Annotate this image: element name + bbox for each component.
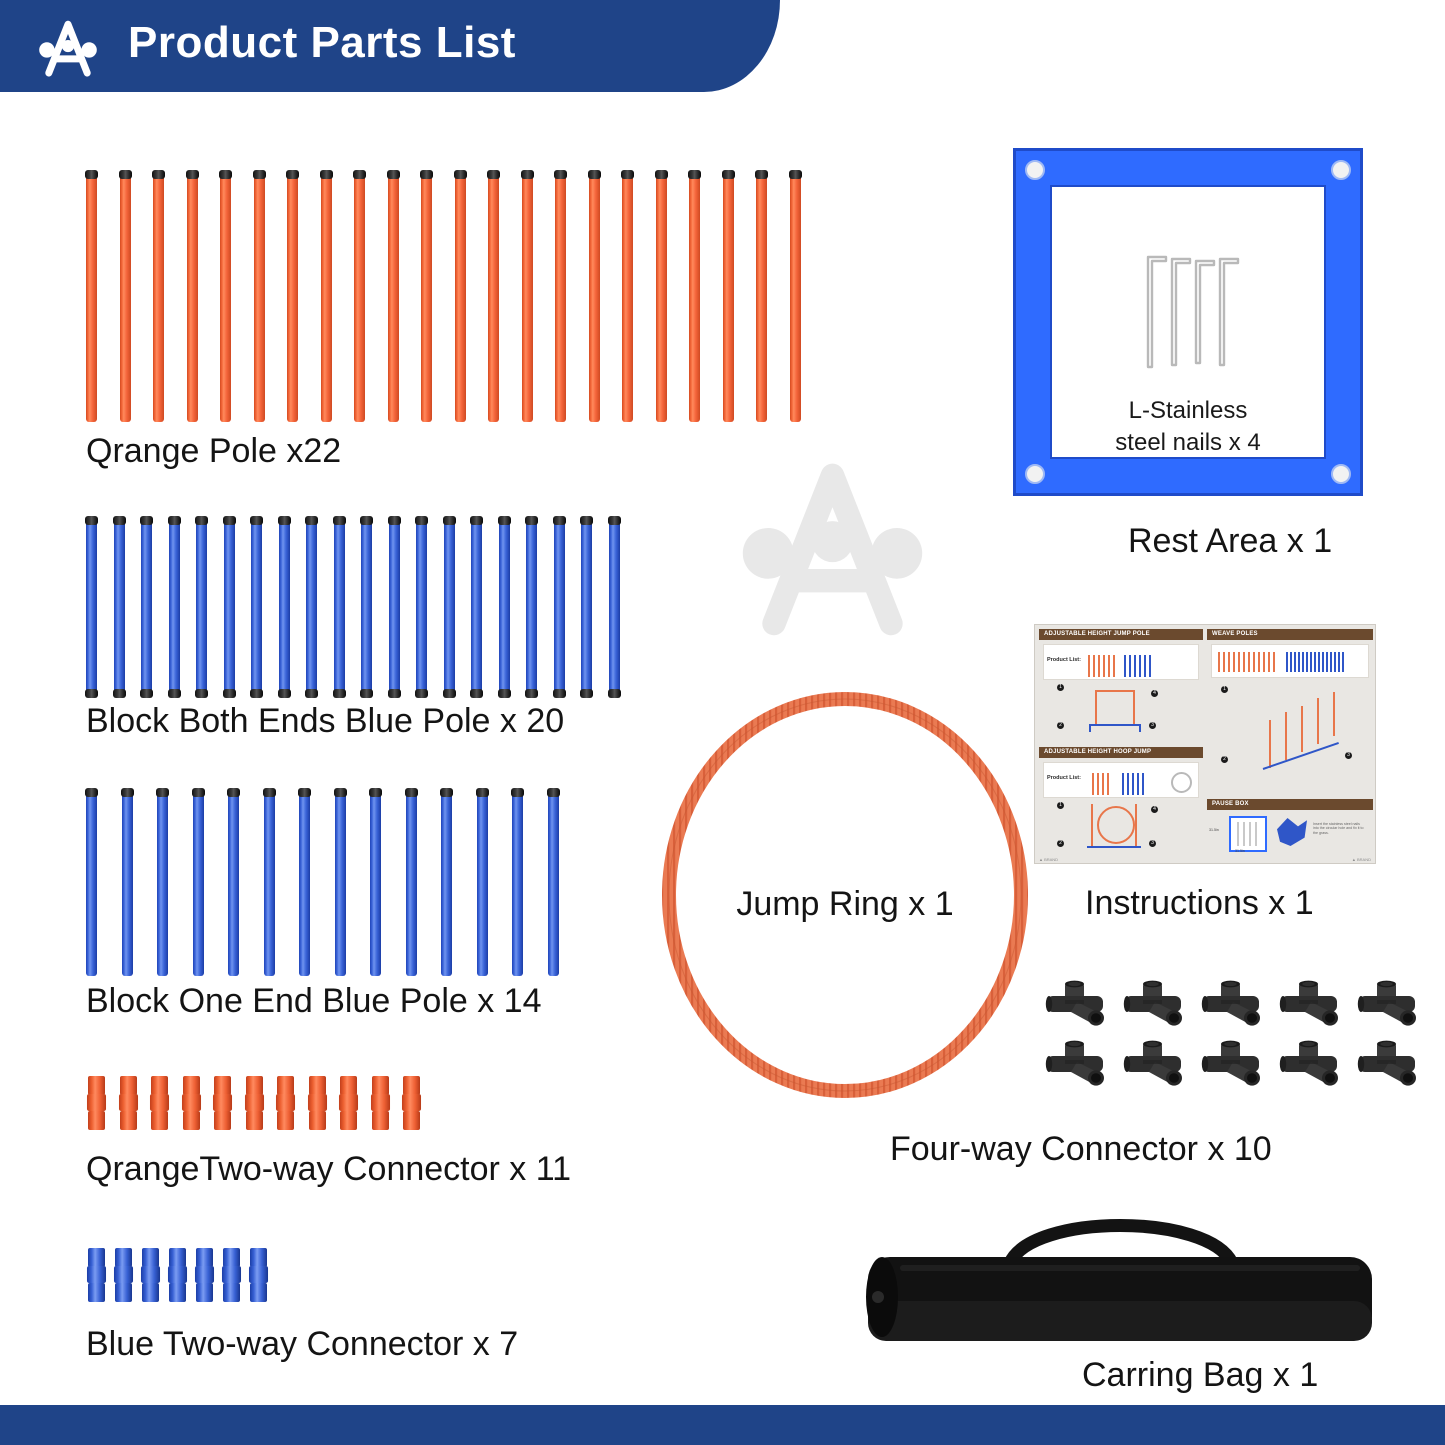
pole-body [86,518,97,696]
connector-segment [169,1248,186,1267]
pole-item [444,518,455,696]
connector-segment [309,1076,326,1095]
pole-cap-top [286,170,299,179]
pole-body [499,518,510,696]
pole-cap-bottom [85,689,98,698]
two-way-connector-item [340,1076,357,1130]
connector-segment [370,1094,389,1110]
pole-item [370,790,381,976]
panel-product-list-jump-pole: Product List: [1043,644,1199,680]
connector-segment [181,1094,200,1110]
pole-cap-top [547,788,560,797]
panel-product-list-hoop-jump: Product List: [1043,762,1199,798]
step-badge-3: 3 [1345,752,1352,759]
panel-diagram-weave-poles: 1 2 3 [1207,680,1373,788]
pole-cap-top [360,516,373,525]
l-nail-icon-group [1052,239,1324,379]
pole-cap-top [387,170,400,179]
pause-box-width-dim: 31.5in [1235,849,1257,853]
pole-cap-top [722,170,735,179]
step-badge-3: 3 [1149,722,1156,729]
pause-box-note: Insert the stainless steel nails into th… [1313,822,1365,835]
connector-segment [372,1076,389,1095]
pole-body [723,172,734,422]
pole-cap-top [755,170,768,179]
four-way-connector-item [1357,1040,1419,1088]
step-badge-4: 4 [1151,690,1158,697]
pole-body [321,172,332,422]
pole-body [287,172,298,422]
pole-item [555,172,566,422]
pole-cap-bottom [140,689,153,698]
two-way-connector-item [246,1076,263,1130]
pole-cap-top [405,788,418,797]
connector-segment [114,1266,133,1282]
pole-item [554,518,565,696]
pole-item [86,518,97,696]
step-badge-3: 3 [1149,840,1156,847]
four-way-connector-item [1201,980,1263,1028]
pole-cap-bottom [305,689,318,698]
pole-body [122,790,133,976]
connector-segment [120,1076,137,1095]
instruction-panel-pause-box: PAUSE BOX 31.5in 31.5in Insert the stain… [1207,799,1373,859]
pole-cap-bottom [223,689,236,698]
pole-cap-top [140,516,153,525]
pole-item [228,790,239,976]
panel-title-pause-box: PAUSE BOX [1207,799,1373,810]
step-badge-4: 4 [1151,806,1158,813]
four-way-connector-item [1045,1040,1107,1088]
pole-body [306,518,317,696]
pole-cap-top [113,516,126,525]
step-badge-1: 1 [1221,686,1228,693]
connector-segment [169,1283,186,1302]
page-title: Product Parts List [128,18,516,68]
pole-body [756,172,767,422]
two-way-connector-item [214,1076,231,1130]
pole-cap-top [250,516,263,525]
connector-segment [88,1248,105,1267]
pole-cap-bottom [608,689,621,698]
pole-item [406,790,417,976]
pole-cap-top [253,170,266,179]
instructions-footer-right: ▲ BRAND [1352,857,1371,862]
pole-item [689,172,700,422]
jump-ring-label: Jump Ring x 1 [655,885,1035,924]
pole-cap-top [263,788,276,797]
pole-body [86,172,97,422]
connector-segment [151,1076,168,1095]
pole-cap-top [369,788,382,797]
pole-item [656,172,667,422]
pole-body [361,518,372,696]
pole-body [334,518,345,696]
two-way-connector-item [196,1248,213,1302]
parts-list-page: Product Parts List Qrange Pole x22 Block… [0,0,1445,1445]
rest-area-label: Rest Area x 1 [1128,522,1332,561]
pole-body [477,790,488,976]
pole-item [321,172,332,422]
pole-body [193,790,204,976]
connector-segment [340,1076,357,1095]
pole-item [220,172,231,422]
pole-item [354,172,365,422]
orange-pole-group [86,172,801,422]
pole-item [526,518,537,696]
connector-segment [115,1248,132,1267]
pole-item [389,518,400,696]
pole-cap-top [580,516,593,525]
pole-body [471,518,482,696]
pole-item [441,790,452,976]
connector-segment [115,1283,132,1302]
nail-text-line-1: L-Stainless [1052,395,1324,427]
connector-segment [372,1111,389,1130]
pole-item [455,172,466,422]
pole-cap-top [655,170,668,179]
pole-cap-top [415,516,428,525]
pole-body [157,790,168,976]
connector-segment [307,1094,326,1110]
pole-cap-top [121,788,134,797]
pole-cap-top [223,516,236,525]
connector-segment [223,1283,240,1302]
pole-body [554,518,565,696]
pole-body [441,790,452,976]
orange-two-way-connector-label: QrangeTwo-way Connector x 11 [86,1150,571,1189]
pole-body [114,518,125,696]
two-way-connector-item [372,1076,389,1130]
pole-body [254,172,265,422]
pole-body [790,172,801,422]
connector-segment [214,1111,231,1130]
footer-bar [0,1405,1445,1445]
pole-item [193,790,204,976]
pole-item [335,790,346,976]
pole-cap-bottom [113,689,126,698]
four-way-connector-item [1123,1040,1185,1088]
two-way-connector-item [151,1076,168,1130]
instructions-card: ADJUSTABLE HEIGHT JUMP POLE Product List… [1034,624,1376,864]
panel-diagram-hoop-jump: 1 2 3 4 [1039,800,1203,856]
connector-segment [88,1283,105,1302]
pole-body [555,172,566,422]
pole-cap-top [195,516,208,525]
pole-item [157,790,168,976]
four-way-connector-label: Four-way Connector x 10 [890,1130,1272,1169]
pole-body [609,518,620,696]
product-list-label: Product List: [1047,657,1081,663]
pole-item [622,172,633,422]
page-header: Product Parts List [0,0,1445,100]
two-way-connector-item [250,1248,267,1302]
pole-body [689,172,700,422]
pole-body [335,790,346,976]
pole-item [548,790,559,976]
pole-body [251,518,262,696]
instruction-panel-hoop-jump: ADJUSTABLE HEIGHT HOOP JUMP Product List… [1039,747,1203,859]
instructions-label: Instructions x 1 [1085,884,1314,923]
pole-cap-bottom [360,689,373,698]
two-way-connector-item [88,1076,105,1130]
connector-segment [150,1094,169,1110]
four-way-connector-group [1045,980,1419,1088]
pole-cap-top [487,170,500,179]
pole-item [488,172,499,422]
pole-body [187,172,198,422]
pole-cap-top [298,788,311,797]
rocket-a-logo-icon [36,14,100,82]
pole-item [287,172,298,422]
pole-cap-top [186,170,199,179]
connector-segment [183,1076,200,1095]
panel-product-list-weave-poles [1211,644,1369,678]
rest-area-inner-panel: L-Stainless steel nails x 4 [1050,185,1326,459]
pole-item [141,518,152,696]
pole-item [522,172,533,422]
pole-item [279,518,290,696]
connector-segment [141,1266,160,1282]
two-way-connector-item [223,1248,240,1302]
pole-item [388,172,399,422]
pole-item [361,518,372,696]
pole-item [334,518,345,696]
pole-cap-top [443,516,456,525]
pause-box-square [1229,816,1267,852]
pole-body [589,172,600,422]
pole-body [153,172,164,422]
nail-text-line-2: steel nails x 4 [1052,427,1324,459]
connector-segment [403,1111,420,1130]
pole-cap-bottom [250,689,263,698]
connector-segment [402,1094,421,1110]
pole-item [120,172,131,422]
pole-item [499,518,510,696]
connector-segment [277,1076,294,1095]
connector-segment [223,1248,240,1267]
connector-segment [118,1094,137,1110]
pole-item [581,518,592,696]
connector-segment [249,1266,268,1282]
pole-item [299,790,310,976]
pole-body [444,518,455,696]
pole-body [455,172,466,422]
panel-title-hoop-jump: ADJUSTABLE HEIGHT HOOP JUMP [1039,747,1203,758]
pole-cap-bottom [470,689,483,698]
pole-body [220,172,231,422]
pole-item [723,172,734,422]
pole-cap-top [454,170,467,179]
pole-item [224,518,235,696]
connector-segment [246,1076,263,1095]
step-badge-1: 1 [1057,802,1064,809]
two-way-connector-item [142,1248,159,1302]
connector-segment [339,1094,358,1110]
two-way-connector-item [88,1248,105,1302]
pole-cap-bottom [498,689,511,698]
pole-item [122,790,133,976]
pole-cap-top [320,170,333,179]
pole-item [196,518,207,696]
pole-cap-top [305,516,318,525]
connector-segment [213,1094,232,1110]
pole-cap-top [476,788,489,797]
step-badge-2: 2 [1057,722,1064,729]
pole-item [169,518,180,696]
four-way-connector-item [1123,980,1185,1028]
pole-body [656,172,667,422]
connector-segment [277,1111,294,1130]
pole-cap-top [521,170,534,179]
connector-segment [88,1076,105,1095]
product-list-label: Product List: [1047,775,1081,781]
pole-item [264,790,275,976]
connector-segment [196,1283,213,1302]
block-both-ends-pole-label: Block Both Ends Blue Pole x 20 [86,702,564,741]
pole-cap-top [119,170,132,179]
pole-cap-bottom [278,689,291,698]
pole-cap-top [334,788,347,797]
connector-segment [168,1266,187,1282]
pole-body [406,790,417,976]
pole-body [548,790,559,976]
connector-segment [246,1111,263,1130]
pole-cap-top [688,170,701,179]
connector-segment [222,1266,241,1282]
block-one-end-pole-group [86,790,559,976]
pole-body [196,518,207,696]
four-way-connector-item [1201,1040,1263,1088]
connector-segment [142,1283,159,1302]
pole-item [114,518,125,696]
pole-cap-top [789,170,802,179]
pole-item [153,172,164,422]
four-way-connector-row [1045,980,1419,1028]
pole-cap-top [388,516,401,525]
block-one-end-pole-label: Block One End Blue Pole x 14 [86,982,542,1021]
connector-segment [196,1248,213,1267]
two-way-connector-item [120,1076,137,1130]
pole-body [526,518,537,696]
pole-cap-top [470,516,483,525]
instruction-panel-weave-poles: WEAVE POLES [1207,629,1373,795]
pole-cap-top [192,788,205,797]
connector-segment [340,1111,357,1130]
connector-segment [151,1111,168,1130]
pole-body [416,518,427,696]
connector-segment [87,1266,106,1282]
panel-diagram-pause-box: 31.5in 31.5in Insert the stainless steel… [1207,812,1373,856]
pole-cap-bottom [525,689,538,698]
pole-cap-top [498,516,511,525]
pole-cap-top [85,788,98,797]
panel-title-jump-pole: ADJUSTABLE HEIGHT JUMP POLE [1039,629,1203,640]
pole-item [254,172,265,422]
step-badge-2: 2 [1221,756,1228,763]
pole-item [756,172,767,422]
pole-item [471,518,482,696]
pole-cap-bottom [553,689,566,698]
pole-cap-bottom [195,689,208,698]
connector-segment [309,1111,326,1130]
carrying-bag [860,1205,1380,1365]
pole-cap-top [333,516,346,525]
pole-body [622,172,633,422]
grommet-top-left [1025,160,1045,180]
rest-area-inner-text: L-Stainless steel nails x 4 [1052,395,1324,460]
block-both-ends-pole-group [86,518,620,696]
two-way-connector-item [277,1076,294,1130]
connector-segment [183,1111,200,1130]
pole-item [416,518,427,696]
carrying-bag-label: Carring Bag x 1 [1082,1356,1318,1395]
grommet-top-right [1331,160,1351,180]
blue-two-way-connector-label: Blue Two-way Connector x 7 [86,1325,518,1364]
connector-segment [244,1094,263,1110]
orange-pole-label: Qrange Pole x22 [86,432,341,471]
pole-cap-bottom [388,689,401,698]
four-way-connector-item [1279,1040,1341,1088]
pole-item [306,518,317,696]
pole-body [522,172,533,422]
pole-cap-top [152,170,165,179]
pole-item [477,790,488,976]
pole-item [589,172,600,422]
four-way-connector-item [1045,980,1107,1028]
four-way-connector-item [1357,980,1419,1028]
pole-body [488,172,499,422]
pole-body [299,790,310,976]
connector-segment [195,1266,214,1282]
connector-segment [276,1094,295,1110]
connector-segment [142,1248,159,1267]
connector-segment [250,1283,267,1302]
pole-cap-top [554,170,567,179]
pole-item [609,518,620,696]
pole-item [512,790,523,976]
pole-cap-top [219,170,232,179]
pole-body [370,790,381,976]
pole-cap-top [511,788,524,797]
four-way-connector-row [1045,1040,1419,1088]
orange-two-way-connector-group [88,1076,420,1130]
pole-item [790,172,801,422]
pole-body [264,790,275,976]
pole-cap-top [440,788,453,797]
pole-item [187,172,198,422]
two-way-connector-item [115,1248,132,1302]
pole-item [251,518,262,696]
connector-segment [214,1076,231,1095]
rocket-a-watermark-icon [735,440,930,655]
pole-cap-top [353,170,366,179]
step-badge-2: 2 [1057,840,1064,847]
grommet-bottom-left [1025,464,1045,484]
pole-item [421,172,432,422]
pole-body [354,172,365,422]
pole-cap-bottom [168,689,181,698]
pole-cap-top [85,170,98,179]
two-way-connector-item [309,1076,326,1130]
pole-body [120,172,131,422]
panel-title-weave-poles: WEAVE POLES [1207,629,1373,640]
panel-diagram-jump-pole: 1 2 3 4 [1039,682,1203,740]
connector-segment [250,1248,267,1267]
pole-cap-top [553,516,566,525]
step-badge-1: 1 [1057,684,1064,691]
pole-body [512,790,523,976]
